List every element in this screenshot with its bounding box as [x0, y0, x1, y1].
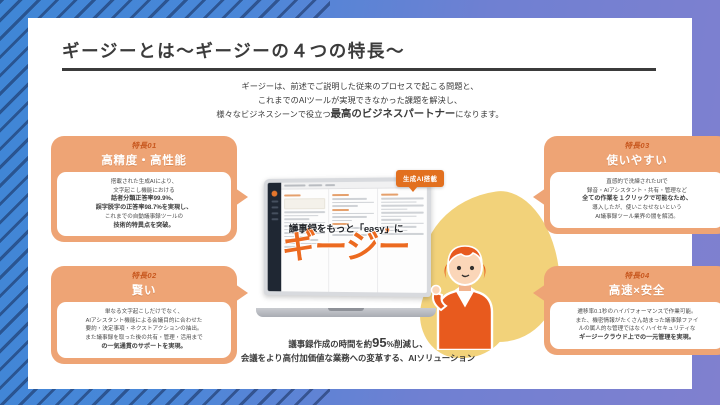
feature-body-line: 搭載された生成AIにより、: [61, 178, 227, 187]
lead-line-3-pre: 様々なビジネスシーンで役立つ: [216, 110, 330, 119]
character-eye: [470, 266, 474, 270]
sidebar-icon: [271, 212, 278, 214]
caption-line-1-pre: 議事録作成の時間を約: [288, 339, 372, 349]
feature-body-line: これまでの自動議事録ツールの: [61, 213, 227, 222]
feature-heading-01: 高精度・高性能: [51, 152, 237, 168]
sidebar-icon: [271, 201, 278, 203]
feature-card-04: 特長04 高速×安全 遷移率0.1秒のハイパフォーマンスで作業可能。 また、機密…: [544, 266, 720, 355]
caption-line-1-post: %削減し、: [387, 339, 428, 349]
caption-line-2: 会議をより高付加価値な業務への変革する、AIソリューション: [188, 351, 528, 365]
feature-heading-03: 使いやすい: [544, 152, 720, 168]
feature-number-03: 特長03: [544, 140, 720, 151]
lead-line-1: ギージーは、前述でご説明した従来のプロセスで起こる問題と、: [28, 80, 692, 94]
feature-number-02: 特長02: [51, 270, 237, 281]
feature-body-line: AIアシスタント機能による会議目的に合わせた: [61, 317, 227, 326]
feature-body-line: 話者分類正答率99.9%、: [61, 195, 227, 204]
feature-body-line: 導入したが、使いこなせないという: [554, 204, 720, 213]
laptop-base: [256, 308, 436, 317]
feature-body-line: 要約・決定事項・ネクストアクションの抽出。: [61, 325, 227, 334]
character-hand: [432, 286, 441, 295]
title-divider: [62, 68, 656, 71]
app-logo-icon: [272, 191, 278, 197]
feature-body-line: ルの属人的な管理ではなくハイセキュリティな: [554, 325, 720, 334]
screen-overlay-logo: ギージー: [255, 230, 437, 263]
caption-highlight-number: 95: [372, 335, 386, 350]
character-eye: [457, 266, 461, 270]
character-illustration: [428, 240, 502, 350]
feature-number-04: 特長04: [544, 270, 720, 281]
speech-tail-icon: [533, 284, 546, 302]
status-badge: 生成AI搭載: [396, 170, 444, 187]
quote-mark-right: ”: [385, 227, 391, 239]
feature-body-line: 直感的で洗練されたUIで: [554, 178, 720, 187]
feature-body-line: ギージークラウド上での一元管理を実現。: [554, 334, 720, 343]
sidebar-icon: [271, 218, 278, 220]
lead-line-2: これまでのAIツールが実現できなかった課題を解決し、: [28, 94, 692, 108]
feature-body-03: 直感的で洗練されたUIで 録音・AIアシスタント・共有・管理など 全ての作業を１…: [550, 172, 720, 228]
character-hair-side: [445, 264, 448, 280]
feature-heading-04: 高速×安全: [544, 282, 720, 298]
lead-paragraph: ギージーは、前述でご説明した従来のプロセスで起こる問題と、 これまでのAIツール…: [28, 80, 692, 123]
toolbar-item: [325, 184, 335, 186]
toolbar-item: [308, 184, 322, 186]
feature-body-line: 単なる文字起こしだけでなく、: [61, 308, 227, 317]
feature-card-01: 特長01 高精度・高性能 搭載された生成AIにより、 文字起こし機能における 話…: [51, 136, 237, 242]
speech-tail-icon: [533, 188, 546, 206]
sidebar-icon: [271, 206, 278, 208]
feature-heading-02: 賢い: [51, 282, 237, 298]
laptop-mockup: “ ” 議事録をもっと「easy」に ギージー: [256, 178, 436, 323]
speech-tail-icon: [235, 188, 248, 206]
feature-number-01: 特長01: [51, 140, 237, 151]
page-title: ギージーとは〜ギージーの４つの特長〜: [62, 38, 405, 63]
quote-mark-left: “: [306, 227, 312, 239]
character-hair-side: [483, 264, 486, 280]
slide-card: ギージーとは〜ギージーの４つの特長〜 ギージーは、前述でご説明した従来のプロセス…: [28, 18, 692, 389]
feature-body-04: 遷移率0.1秒のハイパフォーマンスで作業可能。 また、機密情報がたくさん詰まった…: [550, 302, 720, 349]
feature-card-03: 特長03 使いやすい 直感的で洗練されたUIで 録音・AIアシスタント・共有・管…: [544, 136, 720, 234]
feature-body-line: AI議事録ツール業界の闇を解消。: [554, 213, 720, 222]
feature-body-line: 誤字脱字の正答率98.7%を実現し、: [61, 204, 227, 213]
feature-body-line: 全ての作業を１クリックで可能なため、: [554, 195, 720, 204]
feature-body-line: 遷移率0.1秒のハイパフォーマンスで作業可能。: [554, 308, 720, 317]
feature-body-line: また、機密情報がたくさん詰まった議事録ファイ: [554, 317, 720, 326]
lead-line-3-post: になります。: [455, 110, 503, 119]
feature-body-line: 技術的特異点を突破。: [61, 222, 227, 231]
lead-line-3-strong: 最高のビジネスパートナー: [331, 109, 456, 120]
toolbar-item: [284, 184, 305, 186]
feature-body-01: 搭載された生成AIにより、 文字起こし機能における 話者分類正答率99.9%、 …: [57, 172, 231, 236]
lead-line-3: 様々なビジネスシーンで役立つ最高のビジネスパートナーになります。: [28, 108, 692, 122]
speech-tail-icon: [235, 284, 248, 302]
